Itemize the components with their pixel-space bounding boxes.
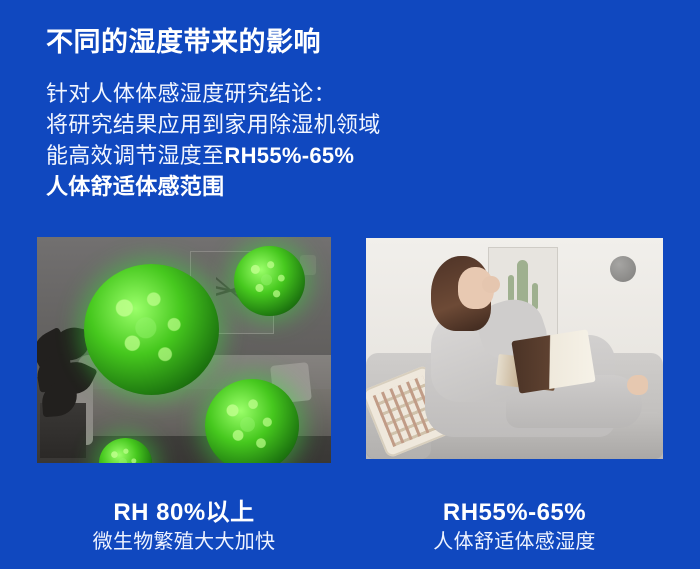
wall-speaker-icon xyxy=(610,256,636,282)
microbe-orb xyxy=(84,264,219,395)
dim-room-scene xyxy=(37,237,331,463)
caption-comfort-humidity: RH55%-65% 人体舒适体感湿度 xyxy=(366,498,663,556)
body-line-4: 人体舒适体感范围 xyxy=(46,171,381,202)
page-title: 不同的湿度带来的影响 xyxy=(46,20,321,59)
body-line-3-humidity-range: RH55%-65% xyxy=(224,143,354,168)
poster-canvas: 不同的湿度带来的影响 针对人体体感湿度研究结论： 将研究结果应用到家用除湿机领域… xyxy=(0,0,700,569)
woman-foot xyxy=(627,375,648,395)
caption-high-humidity: RH 80%以上 微生物繁殖大大加快 xyxy=(37,498,331,556)
caption-right-sub: 人体舒适体感湿度 xyxy=(366,528,663,556)
caption-left-sub: 微生物繁殖大大加快 xyxy=(37,528,331,556)
bright-room-scene xyxy=(366,238,663,459)
body-line-3-prefix: 能高效调节湿度至 xyxy=(46,143,224,168)
body-line-1: 针对人体体感湿度研究结论： xyxy=(46,78,381,109)
microbe-orb xyxy=(234,246,305,316)
body-line-2: 将研究结果应用到家用除湿机领域 xyxy=(46,109,381,140)
woman-hand xyxy=(482,276,500,294)
caption-left-main: RH 80%以上 xyxy=(37,498,331,528)
photo-comfort-humidity xyxy=(366,238,663,459)
body-line-3: 能高效调节湿度至RH55%-65% xyxy=(46,140,381,171)
photo-high-humidity xyxy=(37,237,331,463)
caption-right-main: RH55%-65% xyxy=(366,498,663,528)
microbe-orb xyxy=(205,379,299,463)
body-copy: 针对人体体感湿度研究结论： 将研究结果应用到家用除湿机领域 能高效调节湿度至RH… xyxy=(46,78,381,202)
